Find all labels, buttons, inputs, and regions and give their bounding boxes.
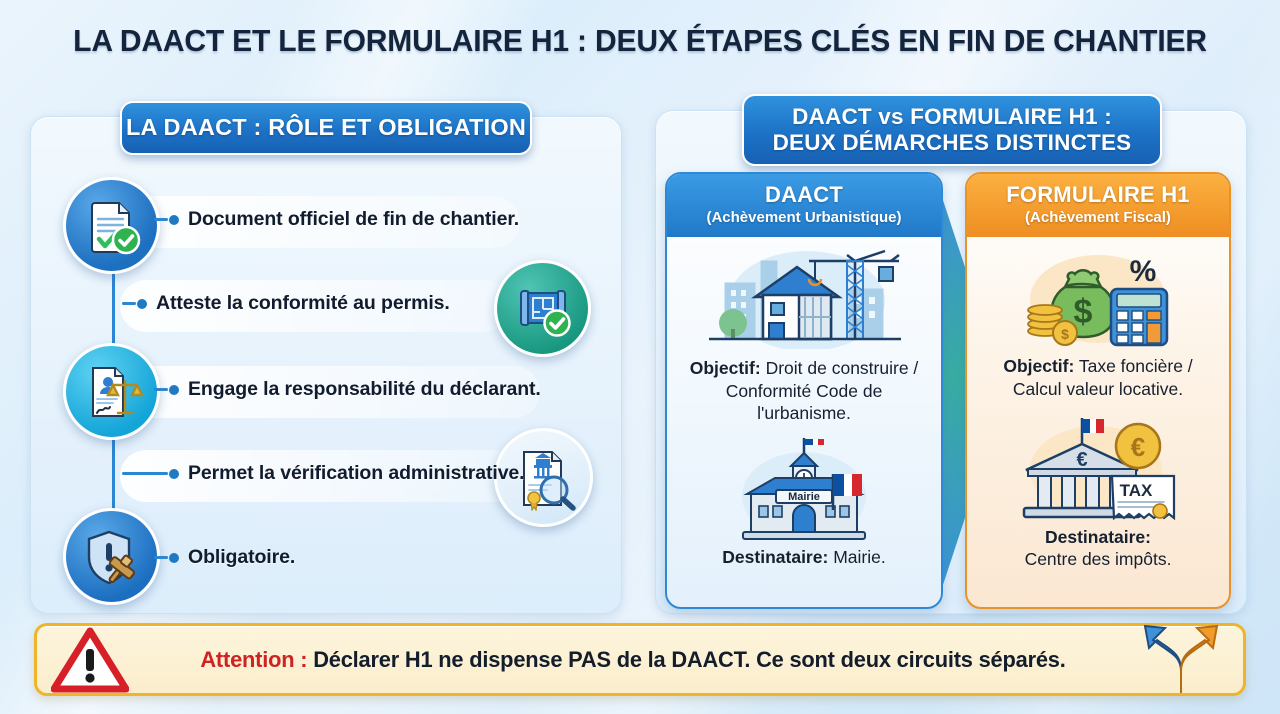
list-item: Obligatoire. <box>154 546 295 569</box>
svg-text:$: $ <box>1074 293 1093 331</box>
recipient-value: Centre des impôts. <box>1025 549 1172 569</box>
money-bag-calculator-icon: $ $ % <box>967 245 1229 349</box>
comparison-card-h1: FORMULAIRE H1 (Achèvement Fiscal) $ $ <box>965 172 1231 609</box>
list-item-label: Obligatoire. <box>188 546 295 569</box>
card-objective-h1: Objectif: Taxe foncière / Calcul valeur … <box>967 355 1229 400</box>
connector-dot <box>122 299 147 309</box>
list-item-label: Engage la responsabilité du déclarant. <box>188 378 541 401</box>
objective-label: Objectif: <box>690 358 761 378</box>
tax-receipt-text: TAX <box>1120 481 1153 500</box>
comparison-card-daact: DAACT (Achèvement Urbanistique) <box>665 172 943 609</box>
card-subtitle: (Achèvement Urbanistique) <box>673 209 935 226</box>
alert-message: Attention : Déclarer H1 ne dispense PAS … <box>144 647 1122 673</box>
connector-dot <box>154 385 179 395</box>
alert-prefix: Attention : <box>200 647 307 672</box>
mairie-sign-text: Mairie <box>788 491 820 503</box>
recipient-value: Mairie. <box>833 547 886 567</box>
right-panel-header-line1: DAACT vs FORMULAIRE H1 : <box>792 104 1112 130</box>
svg-text:€: € <box>1131 432 1145 462</box>
list-item: Atteste la conformité au permis. <box>122 292 450 315</box>
card-header-daact: DAACT (Achèvement Urbanistique) <box>667 174 941 237</box>
left-panel-header-label: LA DAACT : RÔLE ET OBLIGATION <box>126 114 526 141</box>
recipient-label: Destinataire: <box>722 547 828 567</box>
list-item-label: Document officiel de fin de chantier. <box>188 208 519 231</box>
shield-gavel-icon <box>63 508 160 605</box>
card-title: FORMULAIRE H1 <box>973 183 1223 207</box>
tax-bank-euro-icon: € € TAX <box>967 410 1229 526</box>
connector-dot <box>122 469 179 479</box>
list-item: Engage la responsabilité du déclarant. <box>154 378 541 401</box>
page-title: LA DAACT ET LE FORMULAIRE H1 : DEUX ÉTAP… <box>10 24 1271 59</box>
alert-bar: Attention : Déclarer H1 ne dispense PAS … <box>34 623 1246 696</box>
list-item: Permet la vérification administrative. <box>122 462 525 485</box>
svg-text:%: % <box>1130 255 1157 288</box>
objective-label: Objectif: <box>1003 356 1074 376</box>
card-objective-daact: Objectif: Droit de construire / Conformi… <box>667 357 941 424</box>
connector-dot <box>154 553 179 563</box>
fork-arrows-icon <box>1137 625 1225 695</box>
blueprint-check-icon <box>494 260 591 357</box>
document-check-icon <box>63 177 160 274</box>
svg-text:€: € <box>1076 449 1087 471</box>
card-title: DAACT <box>673 183 935 207</box>
list-item-label: Atteste la conformité au permis. <box>156 292 450 315</box>
connector-dot <box>154 215 179 225</box>
signed-document-scales-icon <box>63 343 160 440</box>
list-item-label: Permet la vérification administrative. <box>188 462 525 485</box>
warning-triangle-icon <box>51 627 129 693</box>
svg-text:$: $ <box>1061 326 1069 342</box>
alert-body: Déclarer H1 ne dispense PAS de la DAACT.… <box>313 647 1065 672</box>
house-construction-crane-icon <box>667 243 941 351</box>
card-subtitle: (Achèvement Fiscal) <box>973 209 1223 226</box>
right-panel-header: DAACT vs FORMULAIRE H1 : DEUX DÉMARCHES … <box>742 94 1162 166</box>
list-item: Document officiel de fin de chantier. <box>154 208 519 231</box>
card-header-h1: FORMULAIRE H1 (Achèvement Fiscal) <box>967 174 1229 237</box>
recipient-label: Destinataire: <box>1045 527 1151 547</box>
card-recipient-daact: Destinataire: Mairie. <box>667 546 941 568</box>
right-panel-header-line2: DEUX DÉMARCHES DISTINCTES <box>773 130 1132 156</box>
left-panel-header: LA DAACT : RÔLE ET OBLIGATION <box>120 101 532 155</box>
mairie-building-icon: Mairie <box>667 432 941 544</box>
card-recipient-h1: Destinataire: Centre des impôts. <box>967 526 1229 571</box>
